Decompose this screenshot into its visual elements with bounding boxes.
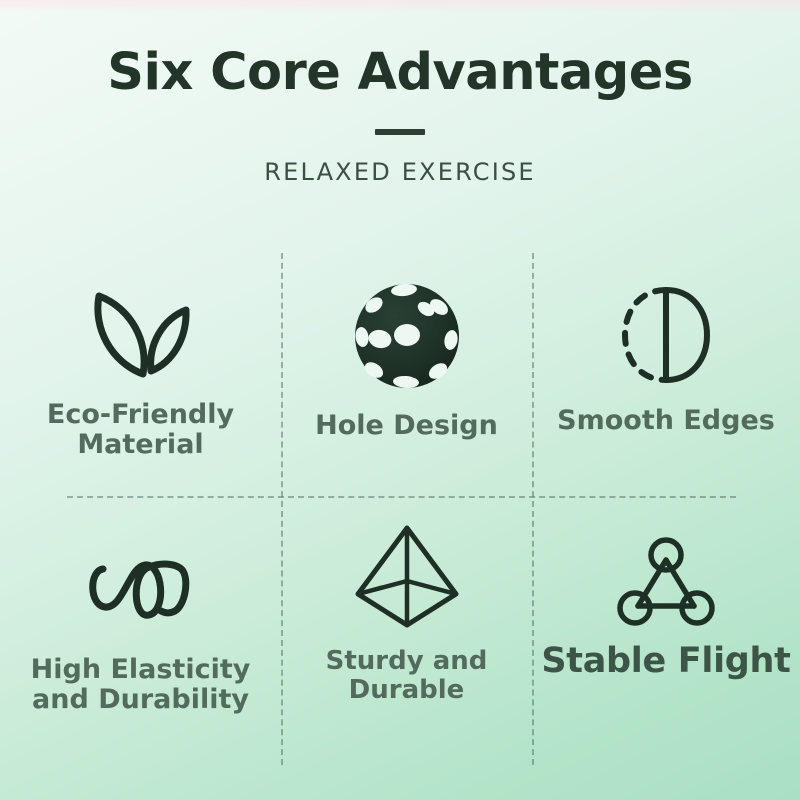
half-dashed-circle-icon xyxy=(621,286,711,384)
feature-label-line2: Durable xyxy=(326,676,488,705)
wireframe-pyramid-icon xyxy=(351,524,463,629)
three-node-triangle-icon xyxy=(618,536,714,628)
page-subtitle: RELAXED EXERCISE xyxy=(0,158,800,186)
feature-label-line1: High Elasticity xyxy=(31,655,251,685)
feature-grid: Eco-Friendly Material xyxy=(0,253,800,765)
feature-label-line2: and Durability xyxy=(31,685,251,715)
feature-cell-smooth-edges[interactable]: Smooth Edges xyxy=(532,253,800,496)
feature-label-line1: Hole Design xyxy=(315,411,498,441)
feature-label: Stable Flight xyxy=(541,642,790,681)
feature-cell-stable-flight[interactable]: Stable Flight xyxy=(532,496,800,765)
feature-label: High Elasticity and Durability xyxy=(31,655,251,715)
feature-label-line1: Sturdy and xyxy=(326,647,488,676)
feature-label: Eco-Friendly Material xyxy=(47,400,234,460)
perforated-ball-icon xyxy=(354,283,460,389)
feature-cell-high-elasticity-and-durability[interactable]: High Elasticity and Durability xyxy=(0,496,281,765)
feature-label-line1: Smooth Edges xyxy=(557,406,775,436)
page-title: Six Core Advantages xyxy=(0,46,800,100)
feature-label: Hole Design xyxy=(315,411,498,441)
feature-label: Smooth Edges xyxy=(557,406,775,436)
poster-header: Six Core Advantages RELAXED EXERCISE xyxy=(0,46,800,186)
spring-coil-icon xyxy=(87,551,195,627)
feature-cell-eco-friendly-material[interactable]: Eco-Friendly Material xyxy=(0,253,281,496)
feature-label: Sturdy and Durable xyxy=(326,647,488,705)
feature-cell-sturdy-and-durable[interactable]: Sturdy and Durable xyxy=(281,496,532,765)
feature-label-line1: Stable Flight xyxy=(541,642,790,681)
feature-cell-hole-design[interactable]: Hole Design xyxy=(281,253,532,496)
feature-label-line2: Material xyxy=(47,430,234,460)
feature-label-line1: Eco-Friendly xyxy=(47,400,234,430)
two-leaves-icon xyxy=(87,286,195,382)
poster-canvas: Six Core Advantages RELAXED EXERCISE Eco… xyxy=(0,0,800,800)
title-rule xyxy=(375,129,425,135)
